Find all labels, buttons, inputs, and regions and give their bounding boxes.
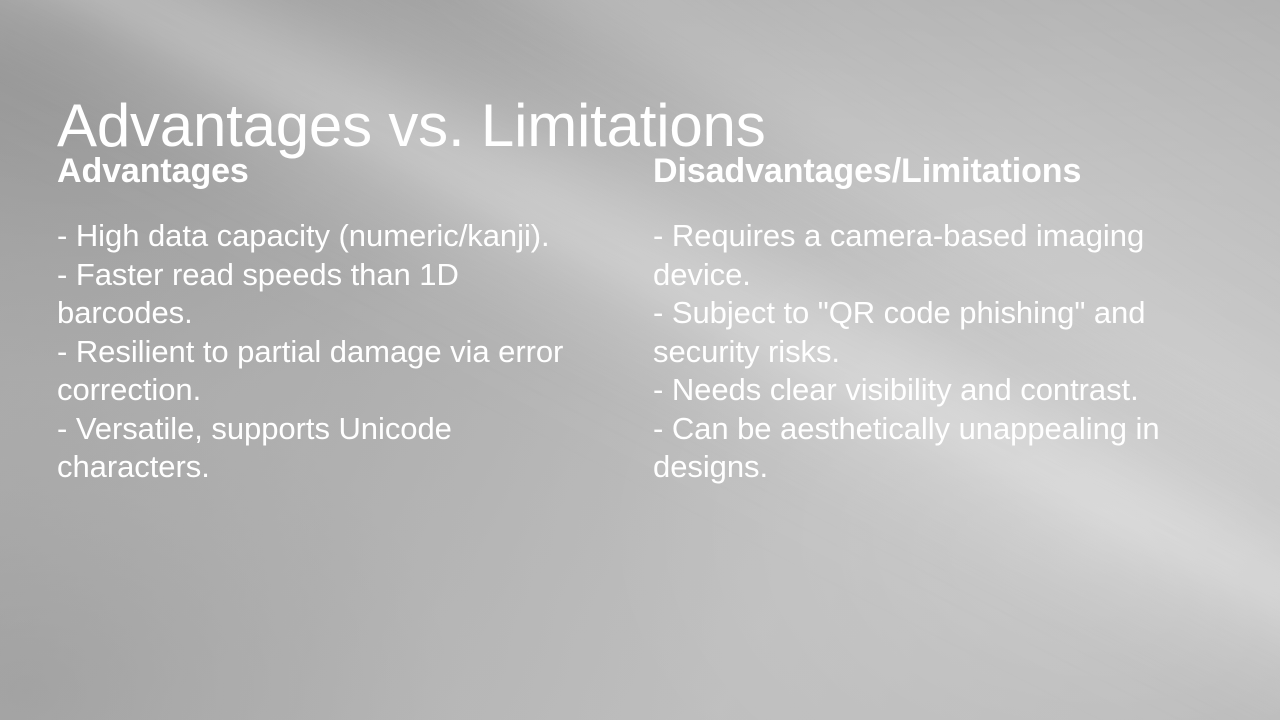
column-advantages: Advantages - High data capacity (numeric… — [0, 152, 653, 487]
column-disadvantages: Disadvantages/Limitations - Requires a c… — [653, 152, 1280, 487]
presentation-slide: Advantages vs. Limitations Advantages - … — [0, 0, 1280, 720]
two-column-layout: Advantages - High data capacity (numeric… — [0, 152, 1280, 487]
list-item: - Can be aesthetically unappealing in de… — [653, 410, 1240, 487]
column-heading-disadvantages: Disadvantages/Limitations — [653, 152, 1240, 191]
list-item: - High data capacity (numeric/kanji). — [57, 217, 603, 256]
slide-content: Advantages vs. Limitations Advantages - … — [0, 0, 1280, 720]
disadvantages-list: - Requires a camera-based imaging device… — [653, 217, 1240, 487]
list-item: - Needs clear visibility and contrast. — [653, 371, 1240, 410]
list-item: - Faster read speeds than 1D barcodes. — [57, 256, 603, 333]
list-item: - Versatile, supports Unicode characters… — [57, 410, 603, 487]
list-item: - Resilient to partial damage via error … — [57, 333, 603, 410]
list-item: - Subject to "QR code phishing" and secu… — [653, 294, 1240, 371]
slide-title: Advantages vs. Limitations — [57, 92, 766, 159]
advantages-list: - High data capacity (numeric/kanji). - … — [57, 217, 603, 487]
list-item: - Requires a camera-based imaging device… — [653, 217, 1240, 294]
column-heading-advantages: Advantages — [57, 152, 603, 191]
